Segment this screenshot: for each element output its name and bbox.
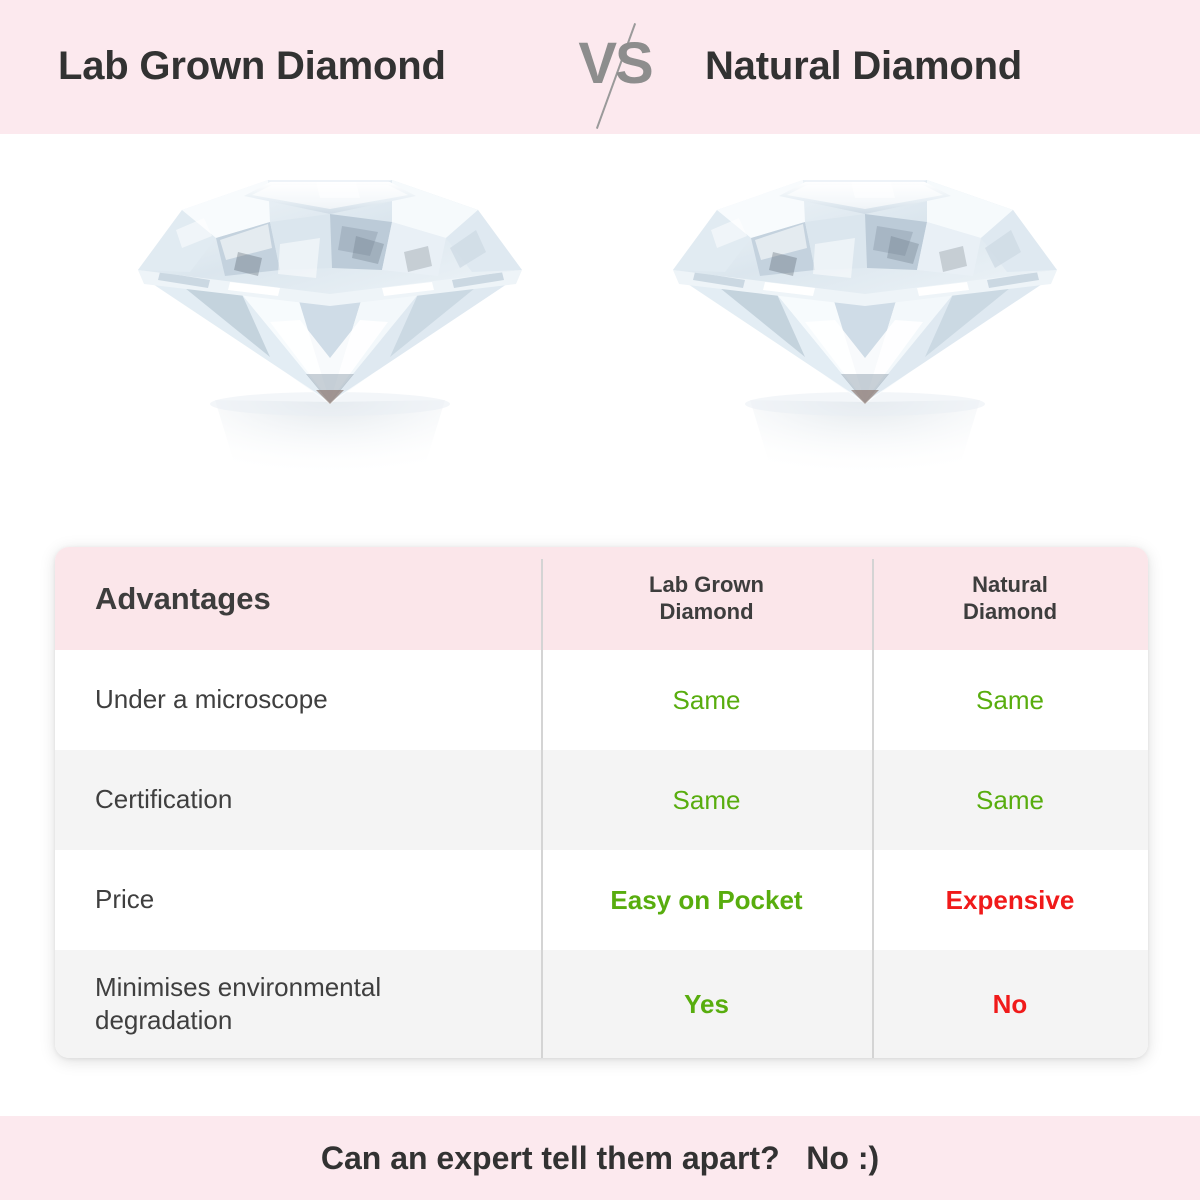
column-divider-2 (872, 559, 874, 1058)
header-cell-natural: Natural Diamond (872, 572, 1148, 626)
header-cell-lab-grown: Lab Grown Diamond (541, 572, 872, 626)
header-title-lab-grown: Lab Grown Diamond (58, 44, 446, 89)
header-lab-grown-line1: Lab Grown (541, 572, 872, 599)
row-value-natural: Expensive (872, 885, 1148, 916)
value-text: Same (976, 685, 1044, 715)
header-title-natural: Natural Diamond (705, 44, 1022, 89)
row-label: Certification (95, 784, 232, 814)
natural-diamond-photo (655, 152, 1075, 492)
value-text: Same (673, 785, 741, 815)
versus-badge: VS (560, 16, 670, 126)
header-cell-advantages: Advantages (55, 581, 541, 617)
header-advantages-label: Advantages (95, 581, 271, 616)
row-label: Minimises environmental degradation (95, 971, 515, 1038)
row-value-lab-grown: Easy on Pocket (541, 885, 872, 916)
header-band: Lab Grown Diamond VS Natural Diamond (0, 0, 1200, 134)
row-value-lab-grown: Same (541, 685, 872, 716)
table-row: Under a microscope Same Same (55, 650, 1148, 750)
header-natural-line2: Diamond (872, 599, 1148, 626)
row-label-cell: Certification (55, 783, 541, 816)
value-text: Easy on Pocket (610, 885, 802, 915)
header-lab-grown-line2: Diamond (541, 599, 872, 626)
diamond-stage (0, 134, 1200, 534)
table-header-row: Advantages Lab Grown Diamond Natural Dia… (55, 547, 1148, 650)
diamond-illustration (655, 152, 1075, 492)
value-text: Yes (684, 989, 729, 1019)
row-label-cell: Price (55, 883, 541, 916)
value-text: No (993, 989, 1028, 1019)
row-value-lab-grown: Same (541, 785, 872, 816)
row-value-natural: Same (872, 785, 1148, 816)
footer-question: Can an expert tell them apart? No :) (321, 1140, 879, 1177)
row-value-natural: Same (872, 685, 1148, 716)
table-row: Minimises environmental degradation Yes … (55, 950, 1148, 1058)
row-value-lab-grown: Yes (541, 989, 872, 1020)
header-natural-line1: Natural (872, 572, 1148, 599)
column-divider-1 (541, 559, 543, 1058)
row-label: Under a microscope (95, 684, 328, 714)
versus-label: VS (560, 30, 670, 97)
value-text: Same (673, 685, 741, 715)
diamond-illustration (120, 152, 540, 492)
row-label-cell: Under a microscope (55, 683, 541, 716)
row-label-cell: Minimises environmental degradation (55, 971, 541, 1038)
table-row: Certification Same Same (55, 750, 1148, 850)
value-text: Same (976, 785, 1044, 815)
footer-band: Can an expert tell them apart? No :) (0, 1116, 1200, 1200)
row-label: Price (95, 884, 154, 914)
table-row: Price Easy on Pocket Expensive (55, 850, 1148, 950)
comparison-table: Advantages Lab Grown Diamond Natural Dia… (55, 547, 1148, 1058)
lab-grown-diamond-photo (120, 152, 540, 492)
row-value-natural: No (872, 989, 1148, 1020)
value-text: Expensive (946, 885, 1075, 915)
